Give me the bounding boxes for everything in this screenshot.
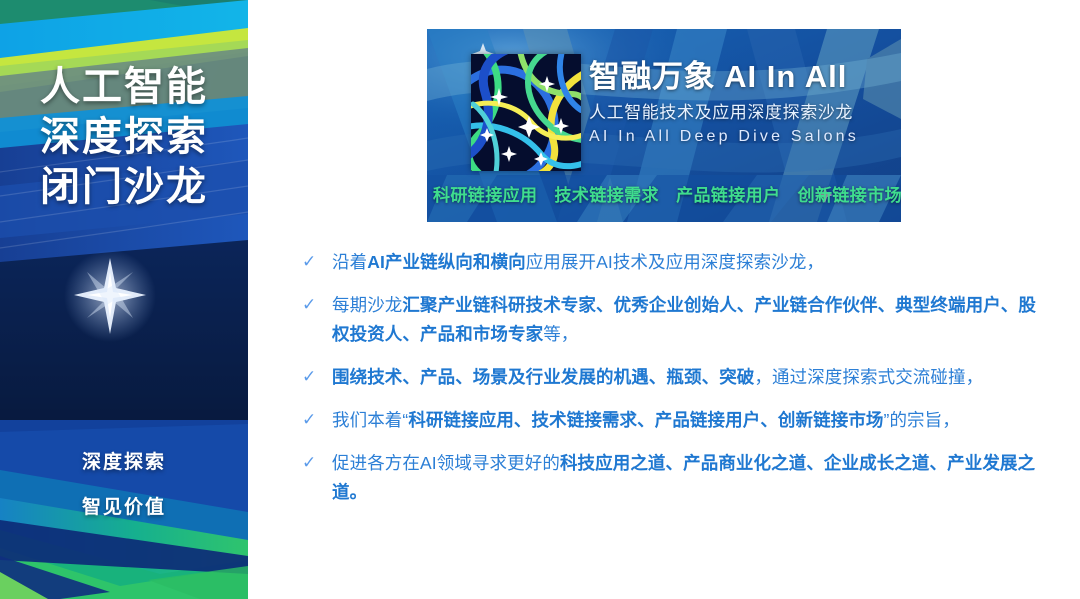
left-panel-subtitle: 深度探索 智见价值: [0, 440, 248, 530]
bullet-text-plain: 每期沙龙: [332, 295, 402, 315]
bullet-text-emphasis: 围绕技术、产品、场景及行业发展的机遇、瓶颈、突破: [332, 367, 754, 387]
left-panel-title: 人工智能 深度探索 闭门沙龙: [0, 62, 248, 212]
slogan-1: 科研链接应用: [433, 186, 537, 205]
title-line-3: 闭门沙龙: [0, 162, 248, 212]
bullet-item: ✓沿着AI产业链纵向和横向应用展开AI技术及应用深度探索沙龙，: [300, 248, 1040, 277]
star-sparkle-icon: [64, 250, 156, 342]
slogan-3: 产品链接用户: [676, 186, 780, 205]
bullet-text: 每期沙龙汇聚产业链科研技术专家、优秀企业创始人、产业链合作伙伴、典型终端用户、股…: [332, 295, 1036, 344]
bullet-item: ✓促进各方在AI领域寻求更好的科技应用之道、产品商业化之道、企业成长之道、产业发…: [300, 449, 1040, 507]
bullet-text-plain: ，通过深度探索式交流碰撞，: [754, 367, 983, 387]
subtitle-line-2: 智见价值: [0, 485, 248, 530]
checkmark-icon: ✓: [302, 450, 316, 476]
banner-slogan-row: 科研链接应用 技术链接需求 产品链接用户 创新链接市场: [427, 181, 901, 206]
bullet-text: 围绕技术、产品、场景及行业发展的机遇、瓶颈、突破，通过深度探索式交流碰撞，: [332, 367, 983, 387]
banner-title-en: AI In All: [724, 59, 847, 94]
bullet-text-plain: 沿着: [332, 252, 367, 272]
bullet-text: 我们本着“科研链接应用、技术链接需求、产品链接用户、创新链接市场”的宗旨，: [332, 410, 960, 430]
slogan-2: 技术链接需求: [555, 186, 659, 205]
bullet-item: ✓每期沙龙汇聚产业链科研技术专家、优秀企业创始人、产业链合作伙伴、典型终端用户、…: [300, 291, 1040, 349]
title-line-2: 深度探索: [0, 112, 248, 162]
bullet-text-plain: 等，: [543, 324, 578, 344]
event-banner: 智融万象 AI In All 人工智能技术及应用深度探索沙龙 AI In All…: [427, 29, 901, 222]
bullet-list: ✓沿着AI产业链纵向和横向应用展开AI技术及应用深度探索沙龙，✓每期沙龙汇聚产业…: [300, 248, 1040, 521]
subtitle-line-1: 深度探索: [0, 440, 248, 485]
slide-canvas: 人工智能 深度探索 闭门沙龙 深度探索 智见价值: [0, 0, 1080, 599]
bullet-item: ✓围绕技术、产品、场景及行业发展的机遇、瓶颈、突破，通过深度探索式交流碰撞，: [300, 363, 1040, 392]
checkmark-icon: ✓: [302, 364, 316, 390]
bullet-text: 促进各方在AI领域寻求更好的科技应用之道、产品商业化之道、企业成长之道、产业发展…: [332, 453, 1035, 502]
banner-subtitle-cn: 人工智能技术及应用深度探索沙龙: [589, 100, 897, 125]
banner-title-block: 智融万象 AI In All 人工智能技术及应用深度探索沙龙 AI In All…: [589, 57, 897, 148]
bullet-text-emphasis: 汇聚产业链科研技术专家、优秀企业创始人、产业链合作伙伴、典型终端用户、股权投资人…: [332, 295, 1036, 344]
checkmark-icon: ✓: [302, 292, 316, 318]
bullet-item: ✓我们本着“科研链接应用、技术链接需求、产品链接用户、创新链接市场”的宗旨，: [300, 406, 1040, 435]
banner-logo-image: [471, 54, 581, 171]
bullet-text-plain: ”的宗旨，: [884, 410, 960, 430]
left-decorative-panel: 人工智能 深度探索 闭门沙龙 深度探索 智见价值: [0, 0, 248, 599]
banner-subtitle-en: AI In All Deep Dive Salons: [589, 125, 897, 148]
bullet-text-plain: 促进各方在AI领域寻求更好的: [332, 453, 560, 473]
network-ribbons-logo-icon: [471, 54, 581, 171]
checkmark-icon: ✓: [302, 407, 316, 433]
banner-title-cn: 智融万象: [589, 59, 715, 94]
bullet-text: 沿着AI产业链纵向和横向应用展开AI技术及应用深度探索沙龙，: [332, 252, 824, 272]
bullet-text-plain: 我们本着“: [332, 410, 408, 430]
bullet-text-emphasis: 科研链接应用、技术链接需求、产品链接用户、创新链接市场: [408, 410, 883, 430]
slogan-4: 创新链接市场: [798, 186, 901, 205]
bullet-text-emphasis: AI产业链纵向和横向: [367, 252, 526, 272]
bullet-text-plain: 应用展开AI技术及应用深度探索沙龙，: [526, 252, 824, 272]
title-line-1: 人工智能: [0, 62, 248, 112]
checkmark-icon: ✓: [302, 249, 316, 275]
banner-main-title: 智融万象 AI In All: [589, 57, 897, 97]
